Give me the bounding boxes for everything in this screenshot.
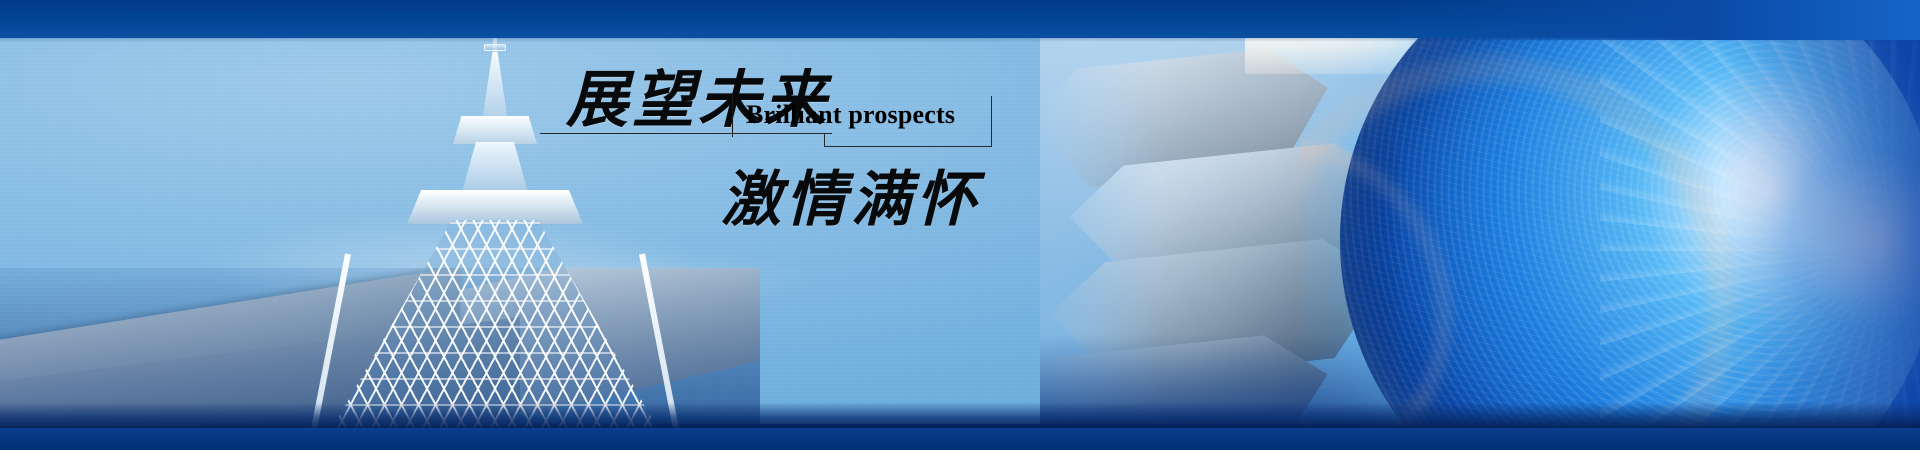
- promo-banner: 展望未来 Brilliant prospects 激情满怀: [0, 0, 1920, 450]
- divider-rule-lower: [824, 146, 992, 147]
- tower-upper-deck: [453, 116, 537, 144]
- headline-english: Brilliant prospects: [746, 100, 955, 130]
- frame-bottom-gradient: [0, 402, 1920, 428]
- globe-graphic: [1300, 0, 1920, 450]
- divider-rule-right: [991, 96, 992, 147]
- frame-top-right-glow: [1380, 0, 1920, 40]
- tower-mid-section: [461, 142, 529, 196]
- tower-spire: [482, 52, 508, 122]
- divider-rule-left: [540, 133, 832, 134]
- headline-separator: [732, 93, 733, 137]
- headline-chinese-line-2: 激情满怀: [721, 170, 981, 230]
- headline-block: 展望未来 Brilliant prospects 激情满怀: [536, 60, 1096, 270]
- tower-ring-2: [484, 44, 506, 51]
- frame-bottom-bar: [0, 428, 1920, 450]
- divider-rule-tick: [824, 133, 825, 147]
- globe-right-blue-fade: [1720, 0, 1920, 450]
